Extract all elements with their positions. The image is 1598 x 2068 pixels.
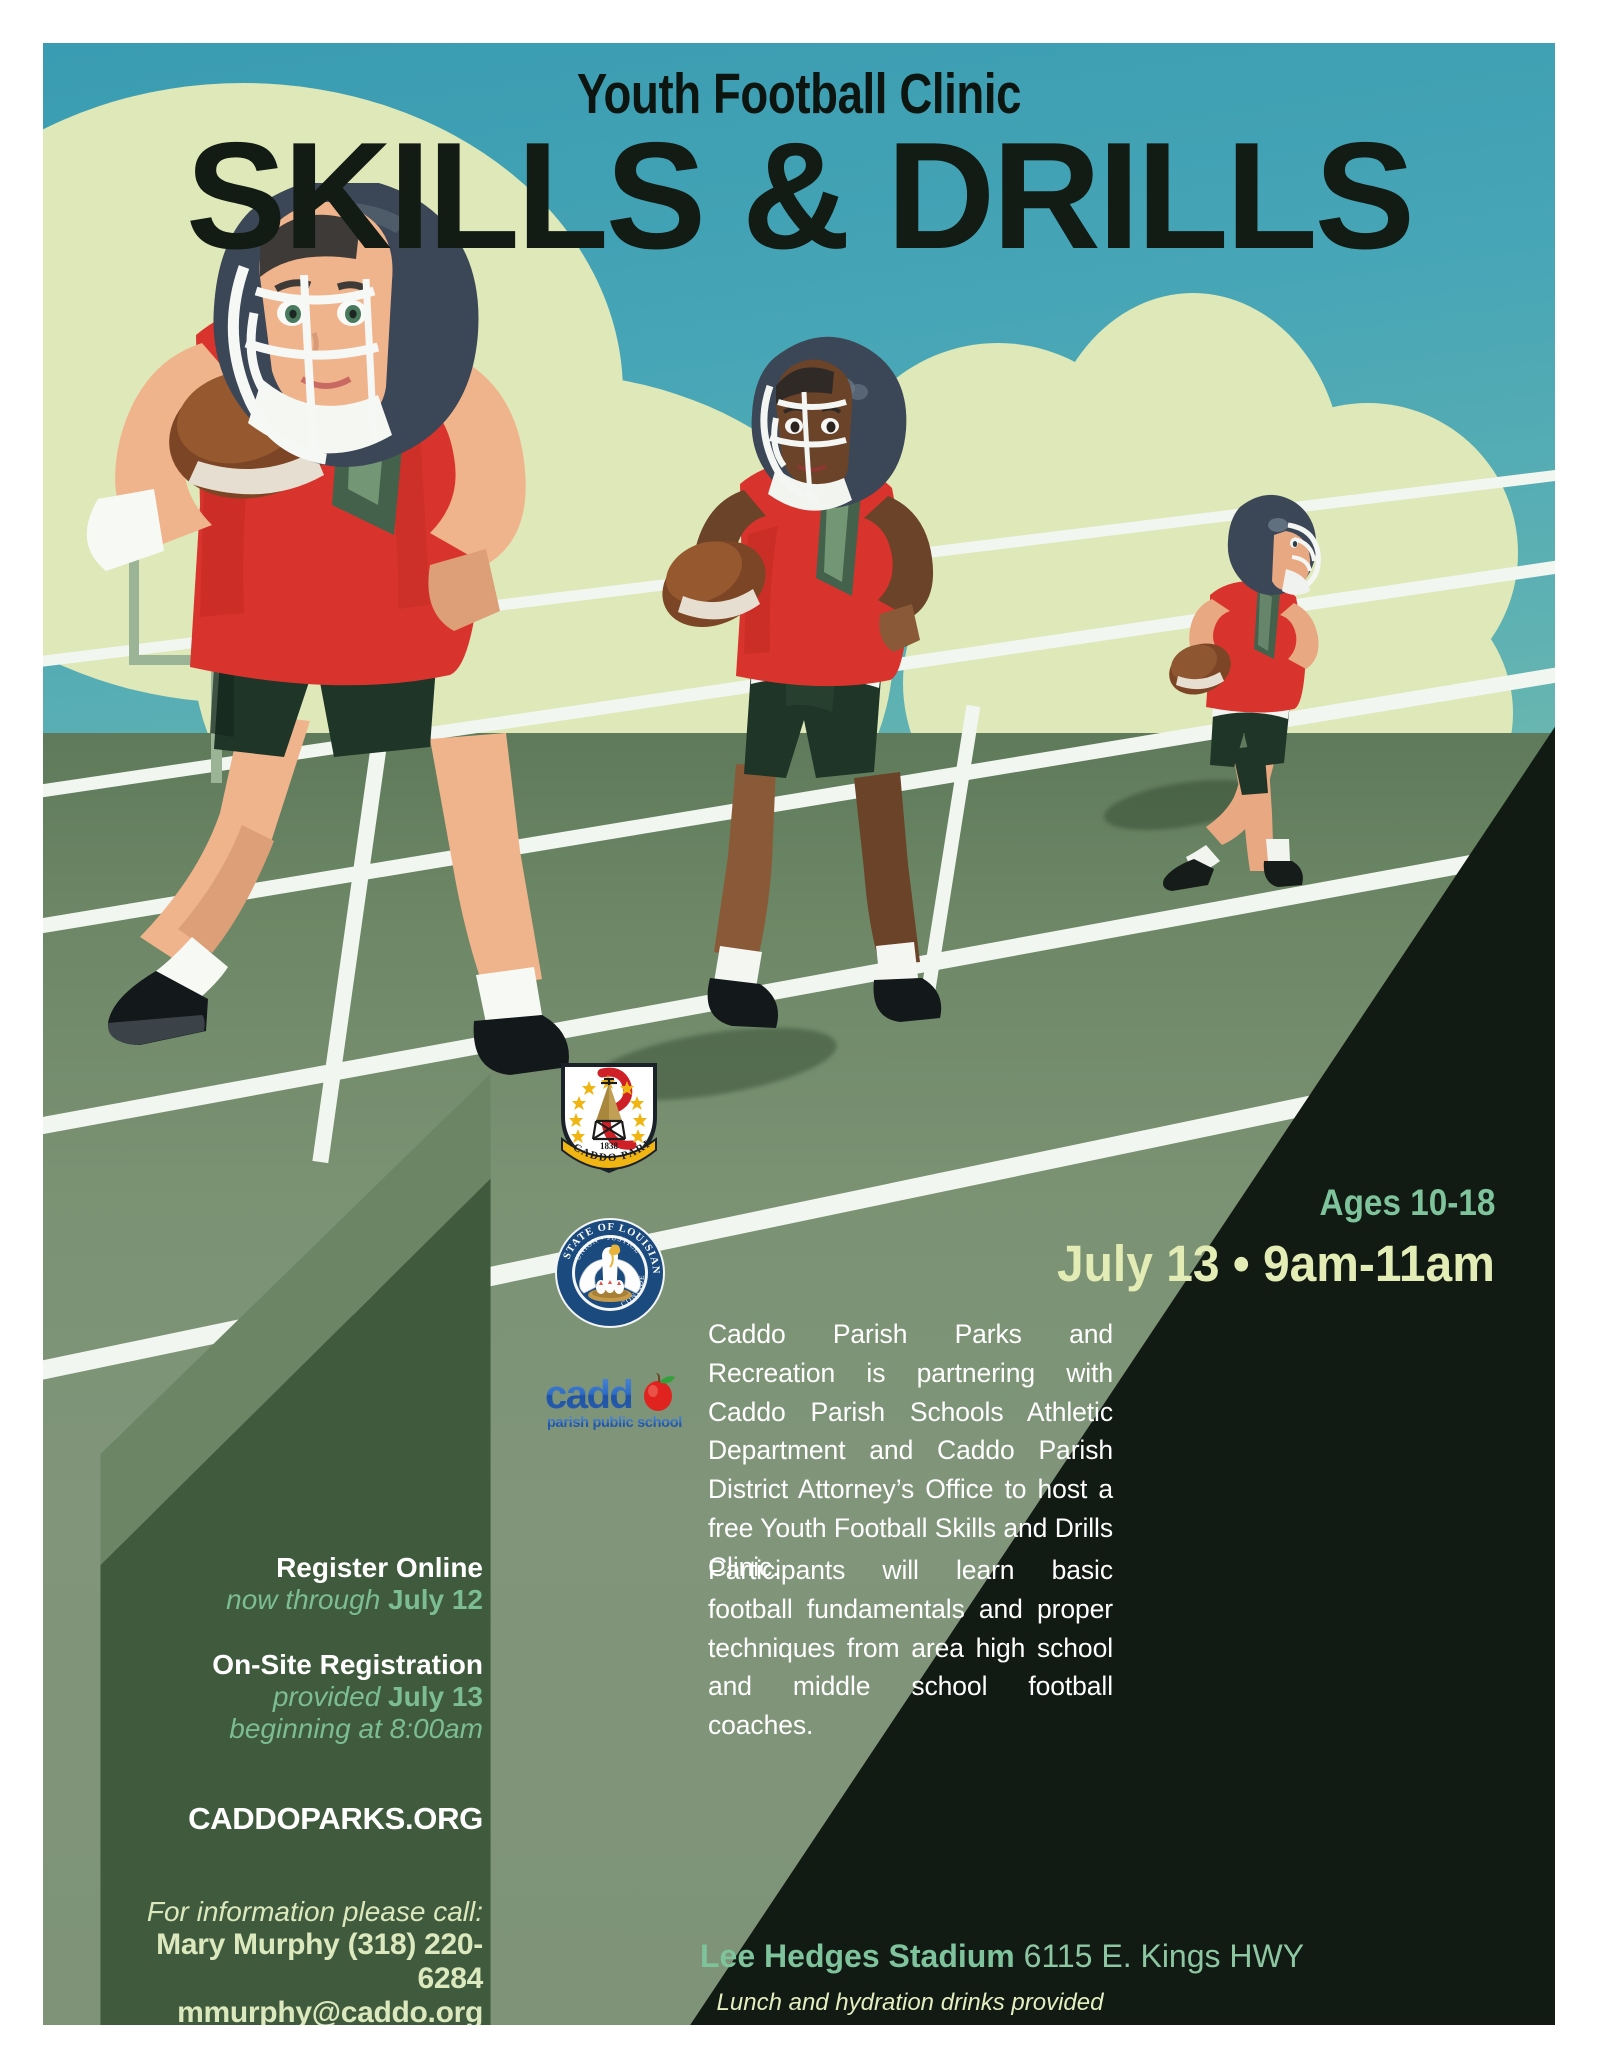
register-online-dates: now through July 12: [123, 1584, 483, 1616]
onsite-prefix: provided: [273, 1681, 388, 1712]
onsite-date: July 13: [388, 1681, 483, 1712]
description-paragraph-1: Caddo Parish Parks and Recreation is par…: [708, 1315, 1113, 1587]
register-online-prefix: now through: [226, 1584, 388, 1615]
onsite-start-time-text: beginning at 8:00am: [229, 1713, 483, 1744]
register-online-heading: Register Online: [123, 1552, 483, 1584]
player-three: [1128, 473, 1398, 903]
onsite-registration-heading: On-Site Registration: [123, 1649, 483, 1681]
state-of-louisiana-seal-logo: STATE OF LOUISIANA UNION • JUSTICE CONFI…: [554, 1217, 666, 1329]
contact-email[interactable]: mmurphy@caddo.org: [98, 1996, 483, 2025]
onsite-registration-block: On-Site Registration provided July 13 be…: [123, 1649, 483, 1745]
cpps-tagline: parish public schools: [547, 1415, 683, 1431]
contact-block: For information please call: Mary Murphy…: [98, 1896, 483, 2025]
poster-canvas: Youth Football Clinic SKILLS & DRILLS Ag…: [43, 43, 1555, 2025]
contact-name-phone[interactable]: Mary Murphy (318) 220-6284: [98, 1928, 483, 1996]
website-url[interactable]: CADDOPARKS.ORG: [123, 1801, 483, 1837]
description-paragraph-2: Participants will learn basic football f…: [708, 1551, 1113, 1745]
caddo-parish-public-schools-logo: cadd parish public schools: [543, 1370, 683, 1436]
register-online-block: Register Online now through July 12: [123, 1552, 483, 1616]
onsite-registration-dates: provided July 13: [123, 1681, 483, 1713]
venue-line: Lee Hedges Stadium 6115 E. Kings HWY: [700, 1938, 1120, 1975]
cpps-wordmark: cadd: [545, 1373, 632, 1417]
ages-label: Ages 10-18: [1319, 1182, 1495, 1224]
venue-name: Lee Hedges Stadium: [700, 1938, 1015, 1974]
date-time-label: July 13 • 9am-11am: [1057, 1234, 1495, 1293]
caddo-parish-seal-logo: 1838 CADDO PARISH: [556, 1059, 662, 1177]
caddo-seal-year: 1838: [600, 1141, 619, 1151]
register-online-date: July 12: [388, 1584, 483, 1615]
contact-label: For information please call:: [98, 1896, 483, 1928]
venue-address: 6115 E. Kings HWY: [1024, 1938, 1304, 1974]
onsite-start-time: beginning at 8:00am: [123, 1713, 483, 1745]
provided-note: Lunch and hydration drinks provided: [700, 1989, 1120, 2017]
page-title: SKILLS & DRILLS: [51, 109, 1548, 284]
